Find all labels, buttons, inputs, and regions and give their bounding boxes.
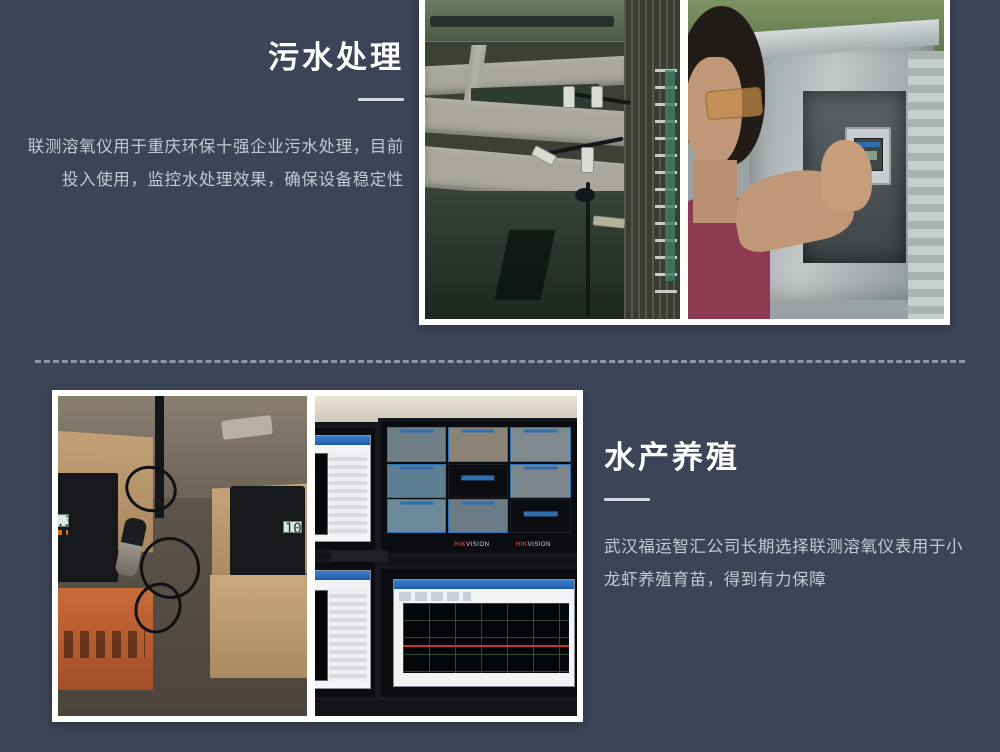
cctv-timestamp-6 (523, 466, 558, 469)
eyeglasses-icon (705, 87, 764, 121)
keyboard[interactable] (331, 550, 389, 563)
green-rail-stripe (665, 70, 675, 281)
photo-technician-instrument-cabinet (688, 0, 944, 319)
data-window-top (315, 435, 371, 542)
cctv-no-signal-badge-2 (523, 511, 558, 516)
corrugated-panel (908, 51, 944, 319)
monitor-bottom-right (378, 566, 577, 700)
meter-right-reading: 10.37 (284, 522, 301, 533)
cctv-tile-4[interactable] (387, 464, 447, 498)
monitor-top-left (315, 425, 378, 553)
sensor-probe-3 (581, 147, 594, 173)
chart-pane-2 (315, 590, 328, 681)
sensor-probe-2 (591, 86, 603, 108)
technician-hand (821, 140, 872, 210)
cctv-timestamp-7 (400, 502, 433, 505)
window-titlebar-2[interactable] (315, 571, 370, 580)
photo-sewage-treatment-basins (425, 0, 680, 319)
section-title-wastewater: 污水处理 (20, 40, 404, 76)
monitor-top-right: HIKVISION HIKVISION (378, 418, 577, 556)
cctv-tile-5-no-signal[interactable] (448, 464, 508, 498)
cardboard-box-right-front (210, 575, 307, 677)
window-titlebar[interactable] (315, 436, 370, 445)
case-showcase-page: 污水处理 联测溶氧仪用于重庆环保十强企业污水处理，目前投入使用，监控水处理效果，… (0, 0, 1000, 752)
cctv-timestamp-8 (461, 502, 494, 505)
cctv-no-signal-badge-1 (461, 475, 494, 480)
chart-toolbar[interactable] (399, 592, 471, 602)
section-body-wastewater: 联测溶氧仪用于重庆环保十强企业污水处理，目前投入使用，监控水处理效果，确保设备稳… (20, 131, 404, 199)
cctv-timestamp-2 (461, 429, 494, 432)
meter-left-display: .32 (58, 514, 69, 527)
photo-dissolved-oxygen-meters: .32 10.37 (58, 396, 307, 716)
hikvision-logo-2: HIKVISION (516, 542, 551, 548)
cctv-tile-1[interactable] (387, 427, 447, 463)
meter-left-keypad[interactable] (58, 530, 68, 534)
title-underline-wastewater (358, 98, 404, 101)
trend-chart-line (403, 645, 569, 647)
meter-right-body: 10.37 (230, 486, 305, 582)
cctv-tile-3[interactable] (510, 427, 571, 463)
hikvision-logo-1: HIKVISION (454, 542, 489, 548)
cctv-tile-8[interactable] (448, 499, 508, 533)
trend-chart-grid (403, 603, 569, 673)
section-divider (35, 360, 965, 363)
data-window-bottom (315, 570, 371, 689)
section-wastewater-text: 污水处理 联测溶氧仪用于重庆环保十强企业污水处理，目前投入使用，监控水处理效果，… (20, 40, 404, 198)
photo-monitoring-room-screens: HIKVISION HIKVISION (315, 396, 577, 716)
cctv-tile-9-no-signal[interactable] (510, 499, 571, 533)
cctv-timestamp-1 (400, 429, 433, 432)
photo-frame-aquaculture: .32 10.37 (52, 390, 583, 722)
cctv-tile-6[interactable] (510, 464, 571, 498)
section-body-aquaculture: 武汉福运智汇公司长期选择联测溶氧仪表用于小龙虾养殖育苗，得到有力保障 (604, 531, 964, 599)
section-aquaculture-text: 水产养殖 武汉福运智汇公司长期选择联测溶氧仪表用于小龙虾养殖育苗，得到有力保障 (604, 440, 964, 598)
section-title-aquaculture: 水产养殖 (604, 440, 964, 476)
cctv-tile-7[interactable] (387, 499, 447, 533)
data-rows-2 (329, 590, 367, 681)
window-titlebar-3[interactable] (394, 580, 574, 589)
trend-chart-window (393, 579, 575, 687)
meter-right-display: 10.37 (283, 521, 302, 533)
data-rows (329, 453, 367, 535)
cctv-timestamp-3 (523, 429, 558, 432)
photo-frame-wastewater (419, 0, 950, 325)
cctv-timestamp-4 (400, 466, 433, 469)
box-printed-label (64, 631, 145, 658)
chart-pane (315, 453, 328, 535)
cctv-tile-2[interactable] (448, 427, 508, 463)
monitor-bottom-left (315, 559, 378, 700)
meter-left-reading: .32 (58, 515, 68, 527)
overhead-pipe (430, 16, 614, 27)
title-underline-aquaculture (604, 498, 650, 501)
sensor-probe-1 (563, 86, 575, 108)
meter-left-body: .32 (58, 473, 118, 582)
technician-neck (693, 160, 737, 224)
